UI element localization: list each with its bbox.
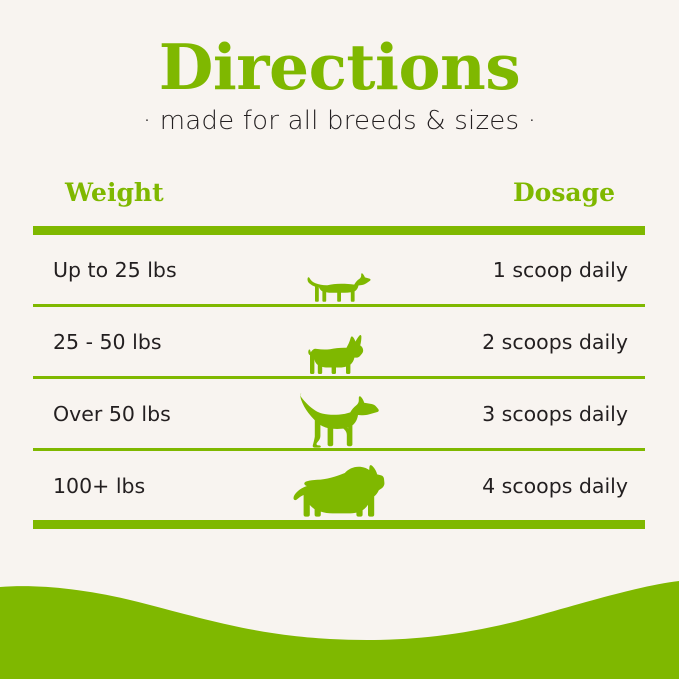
- green-wave-shape: [0, 559, 679, 679]
- row-dosage-value: 2 scoops daily: [482, 330, 628, 354]
- table-row: 100+ lbs 4 scoops daily: [33, 451, 645, 520]
- row-dosage-value: 4 scoops daily: [482, 474, 628, 498]
- dachshund-dog-icon: [307, 270, 371, 304]
- row-weight-value: 100+ lbs: [53, 474, 145, 498]
- table-row: Up to 25 lbs 1 scoop daily: [33, 235, 645, 304]
- header-block: Directions · made for all breeds & sizes…: [0, 34, 679, 136]
- row-weight-value: 25 - 50 lbs: [53, 330, 162, 354]
- page-title: Directions: [0, 34, 679, 100]
- table-row: 25 - 50 lbs 2 scoops daily: [33, 307, 645, 376]
- table-top-rule: [33, 226, 645, 235]
- table-bottom-rule: [33, 520, 645, 529]
- large-fluffy-dog-icon: [293, 460, 385, 520]
- dosage-table: Weight Dosage Up to 25 lbs 1 scoop daily…: [33, 178, 645, 529]
- directions-panel: Directions · made for all breeds & sizes…: [0, 0, 679, 679]
- row-dosage-value: 3 scoops daily: [482, 402, 628, 426]
- corgi-dog-icon: [308, 333, 370, 376]
- table-header-row: Weight Dosage: [33, 178, 645, 226]
- page-subtitle: · made for all breeds & sizes ·: [0, 106, 679, 136]
- column-header-weight: Weight: [65, 178, 164, 208]
- column-header-dosage: Dosage: [513, 178, 615, 208]
- table-row: Over 50 lbs 3 scoops daily: [33, 379, 645, 448]
- pointer-dog-icon: [299, 392, 379, 448]
- row-dosage-value: 1 scoop daily: [493, 258, 628, 282]
- row-weight-value: Over 50 lbs: [53, 402, 171, 426]
- row-weight-value: Up to 25 lbs: [53, 258, 177, 282]
